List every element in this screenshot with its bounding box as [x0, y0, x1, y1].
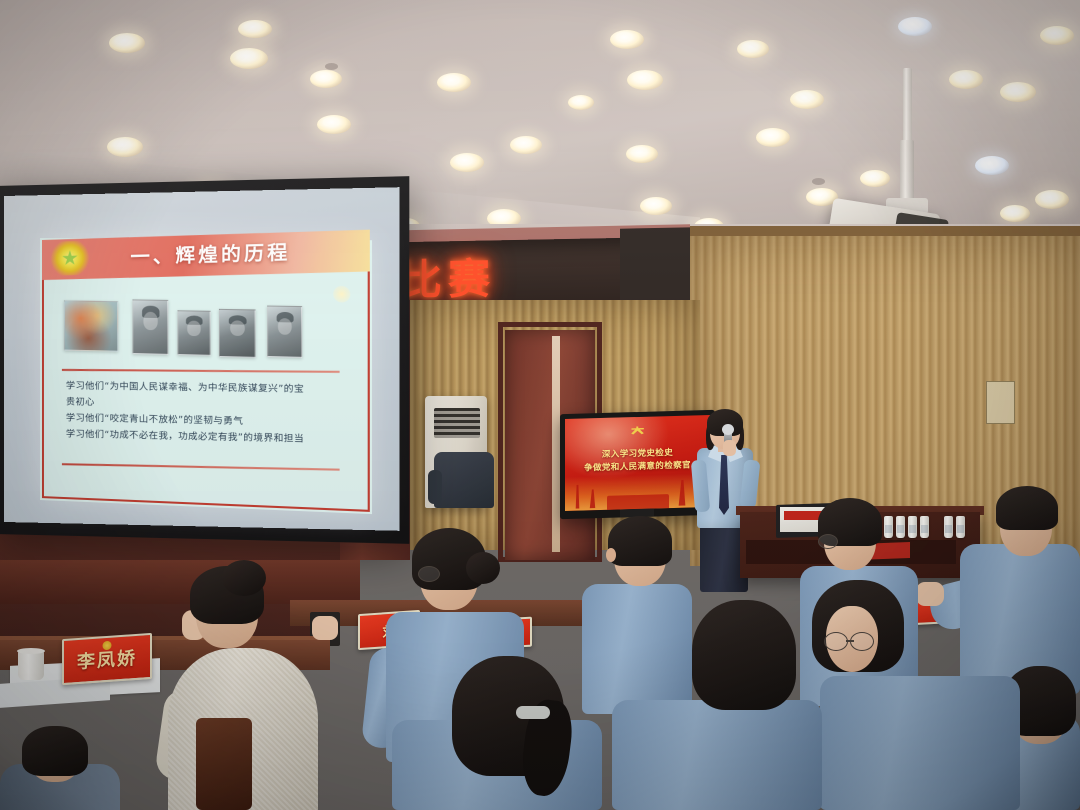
ceiling-downlight — [310, 70, 342, 88]
slide-portrait — [219, 309, 256, 358]
slide-border — [42, 240, 370, 512]
ceiling-downlight — [230, 48, 268, 69]
door-light-reflection — [552, 336, 560, 552]
speaker-hand — [723, 440, 736, 456]
ceiling-downlight — [568, 95, 594, 110]
slide-title: 一、辉煌的历程 — [130, 237, 290, 269]
ceiling-downlight — [107, 137, 143, 157]
party-emblem-icon — [630, 426, 645, 438]
ceiling-downlight — [640, 197, 672, 215]
ceiling-downlight — [756, 128, 790, 147]
ceiling-downlight — [1035, 190, 1069, 209]
ceiling-downlight — [450, 153, 484, 172]
ceiling-downlight — [238, 20, 272, 38]
ceiling-downlight — [1040, 26, 1074, 45]
attendee-uniform — [582, 584, 692, 714]
ceiling-downlight — [975, 156, 1009, 175]
attendee-hair — [608, 516, 672, 566]
ceiling-downlight — [626, 145, 658, 163]
office-chair[interactable] — [434, 452, 494, 508]
eyeglasses-bridge-icon — [846, 640, 854, 642]
sun-glow-icon — [333, 286, 350, 303]
slide-portrait-painting — [64, 300, 118, 351]
ceiling-downlight — [317, 115, 351, 134]
wooden-chair[interactable] — [196, 718, 252, 810]
red-star-burst-icon — [50, 241, 90, 276]
ceiling-downlight — [1000, 205, 1030, 222]
smoke-detector-icon — [325, 63, 338, 70]
attendee-hair — [692, 600, 796, 710]
name-placard: 李凤娇 — [62, 633, 152, 685]
microphone-head-icon — [722, 424, 734, 435]
hair-tie — [516, 706, 550, 719]
ceiling-downlight — [860, 170, 890, 187]
water-bottle — [920, 516, 929, 538]
ceiling-downlight — [610, 30, 644, 49]
air-conditioner-vent — [434, 408, 480, 438]
no-smoking-sign: 禁止吸烟 — [986, 381, 1015, 424]
slide-body-text: 学习他们“为中国人民谋幸福、为中华民族谋复兴”的宝 贵初心 学习他们“咬定青山不… — [66, 377, 357, 451]
ceiling-downlight — [437, 73, 471, 92]
presentation-slide: 一、辉煌的历程 学习他们“为中国人民谋幸福、为中华民族谋复兴”的宝 贵初心 学习… — [40, 238, 372, 514]
attendee-hair-bun — [466, 552, 500, 584]
water-bottle — [896, 516, 905, 538]
ceiling-downlight — [949, 70, 983, 89]
tv-skyline-graphic — [607, 494, 669, 510]
ceiling-downlight — [1000, 82, 1036, 102]
conference-room-photo: 比 赛 禁止吸烟 一、辉煌的历程 学习他们“为中国人民谋幸福、为中华民 — [0, 0, 1080, 810]
attendee-uniform — [612, 700, 822, 810]
water-bottle — [956, 516, 965, 538]
attendee-ear — [606, 548, 616, 562]
slide-portrait — [267, 306, 302, 358]
attendee-uniform — [820, 676, 1020, 810]
ceiling-downlight — [790, 90, 824, 109]
paper-cup-rim — [17, 648, 45, 654]
eyeglasses-icon — [418, 566, 440, 582]
eyeglasses-icon — [818, 534, 838, 549]
slide-portrait — [132, 299, 168, 354]
ceiling-downlight — [510, 136, 542, 154]
water-bottle — [884, 516, 893, 538]
attendee-hand — [916, 582, 944, 606]
slide-portrait — [178, 310, 211, 356]
attendee-hair — [996, 486, 1058, 530]
attendee-hair — [22, 726, 88, 776]
office-chair-armrest — [428, 470, 442, 504]
led-char: 赛 — [448, 258, 490, 301]
paper-cup — [18, 650, 44, 680]
water-bottle — [908, 516, 917, 538]
smoke-detector-icon — [812, 178, 825, 185]
attendee-hair-bun — [222, 560, 266, 596]
ceiling-downlight — [109, 33, 145, 53]
attendee-hand — [312, 616, 338, 640]
back-wall-bench — [0, 560, 360, 604]
tv-display: 深入学习党史检史 争做党和人民满意的检察官 — [565, 415, 710, 511]
ceiling-downlight — [898, 17, 932, 36]
water-bottle — [944, 516, 953, 538]
ceiling-downlight — [737, 40, 769, 58]
ceiling-downlight — [627, 70, 663, 90]
eyeglasses-icon — [824, 632, 848, 651]
